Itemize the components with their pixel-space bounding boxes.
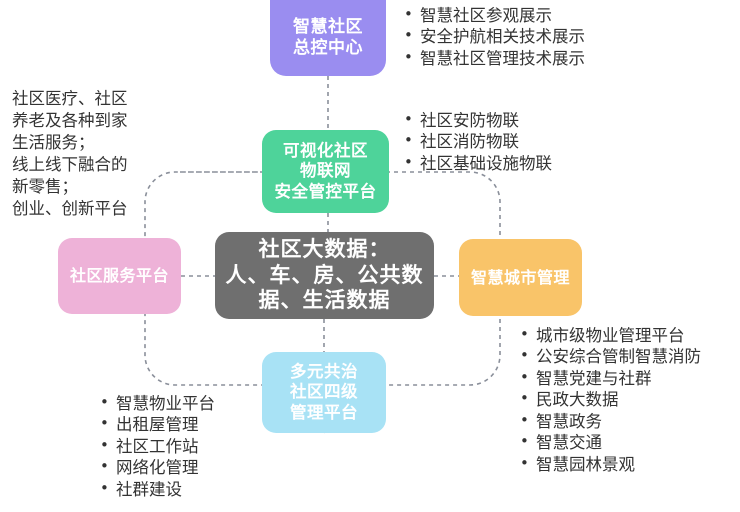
list-item: • 公安综合管制智慧消防 (520, 346, 701, 367)
node-center-line-2: 人、车、房、公共数 (226, 263, 424, 289)
bullet-marker-icon: • (100, 393, 116, 413)
bullet-marker-icon: • (100, 457, 116, 477)
node-community-big-data[interactable]: 社区大数据： 人、车、房、公共数 据、生活数据 (215, 232, 434, 319)
bullet-marker-icon: • (520, 368, 536, 388)
node-visual-community-iot-security-platform[interactable]: 可视化社区 物联网 安全管控平台 (262, 130, 389, 213)
bullet-list-governance: • 智慧物业平台 • 出租屋管理 • 社区工作站 • 网络化管理 • 社群建设 (100, 393, 215, 500)
list-item-label: 智慧社区参观展示 (420, 5, 552, 26)
list-item-label: 社区安防物联 (420, 110, 519, 131)
list-item: • 智慧园林景观 (520, 454, 701, 475)
bullet-list-iot-platform: • 社区安防物联 • 社区消防物联 • 社区基础设施物联 (404, 110, 552, 174)
list-item: • 安全护航相关技术展示 (404, 26, 585, 47)
node-gov-line-1: 多元共治 (290, 362, 358, 382)
node-city-line-1: 智慧城市管理 (471, 268, 570, 288)
list-item-label: 民政大数据 (536, 389, 619, 410)
list-item: • 城市级物业管理平台 (520, 325, 701, 346)
list-item: • 社区消防物联 (404, 131, 552, 152)
list-item: • 社区基础设施物联 (404, 153, 552, 174)
bullet-marker-icon: • (404, 110, 420, 130)
list-item: • 民政大数据 (520, 389, 701, 410)
list-item: • 智慧交通 (520, 432, 701, 453)
node-iot-line-2: 物联网 (275, 161, 377, 181)
left-text-line-2: 养老及各种到家 (12, 110, 187, 132)
node-service-line-1: 社区服务平台 (70, 266, 169, 286)
bullet-marker-icon: • (404, 153, 420, 173)
left-text-line-6: 创业、创新平台 (12, 198, 187, 220)
bullet-marker-icon: • (520, 454, 536, 474)
list-item: • 网络化管理 (100, 457, 215, 478)
list-item-label: 出租屋管理 (116, 414, 199, 435)
node-iot-line-3: 安全管控平台 (275, 182, 377, 202)
list-item: • 智慧社区参观展示 (404, 5, 585, 26)
node-top-line-1: 智慧社区 (293, 17, 363, 38)
bullet-marker-icon: • (100, 436, 116, 456)
list-item: • 智慧党建与社群 (520, 368, 701, 389)
list-item-label: 智慧物业平台 (116, 393, 215, 414)
list-item-label: 网络化管理 (116, 457, 199, 478)
bullet-marker-icon: • (520, 432, 536, 452)
list-item-label: 社区工作站 (116, 436, 199, 457)
node-gov-line-2: 社区四级 (290, 382, 358, 402)
list-item: • 社区工作站 (100, 436, 215, 457)
node-center-line-3: 据、生活数据 (226, 288, 424, 314)
diagram-canvas: 智慧社区 总控中心 可视化社区 物联网 安全管控平台 社区大数据： 人、车、房、… (0, 0, 740, 512)
list-item: • 出租屋管理 (100, 414, 215, 435)
bullet-marker-icon: • (404, 48, 420, 68)
node-gov-line-3: 管理平台 (290, 403, 358, 423)
left-description-text: 社区医疗、社区 养老及各种到家 生活服务； 线上线下融合的 新零售； 创业、创新… (12, 88, 187, 220)
list-item-label: 智慧社区管理技术展示 (420, 48, 585, 69)
left-text-line-4: 线上线下融合的 (12, 154, 187, 176)
list-item: • 智慧物业平台 (100, 393, 215, 414)
list-item-label: 智慧政务 (536, 411, 602, 432)
bullet-marker-icon: • (520, 389, 536, 409)
list-item: • 社群建设 (100, 479, 215, 500)
bullet-marker-icon: • (520, 346, 536, 366)
node-top-line-2: 总控中心 (293, 38, 363, 59)
node-center-line-1: 社区大数据： (226, 237, 424, 263)
node-four-level-community-governance-platform[interactable]: 多元共治 社区四级 管理平台 (262, 352, 386, 433)
bullet-marker-icon: • (404, 26, 420, 46)
bullet-marker-icon: • (100, 414, 116, 434)
left-text-line-5: 新零售； (12, 176, 187, 198)
list-item-label: 城市级物业管理平台 (536, 325, 685, 346)
list-item-label: 安全护航相关技术展示 (420, 26, 585, 47)
bullet-marker-icon: • (100, 479, 116, 499)
bullet-marker-icon: • (404, 5, 420, 25)
bullet-marker-icon: • (520, 411, 536, 431)
bullet-marker-icon: • (520, 325, 536, 345)
bullet-list-smart-city: • 城市级物业管理平台 • 公安综合管制智慧消防 • 智慧党建与社群 • 民政大… (520, 325, 701, 475)
left-text-line-1: 社区医疗、社区 (12, 88, 187, 110)
node-community-service-platform[interactable]: 社区服务平台 (58, 238, 181, 314)
list-item-label: 智慧交通 (536, 432, 602, 453)
list-item-label: 社区消防物联 (420, 131, 519, 152)
list-item-label: 公安综合管制智慧消防 (536, 346, 701, 367)
list-item: • 智慧政务 (520, 411, 701, 432)
list-item-label: 社区基础设施物联 (420, 153, 552, 174)
node-smart-city-management[interactable]: 智慧城市管理 (459, 239, 582, 316)
bullet-list-control-center: • 智慧社区参观展示 • 安全护航相关技术展示 • 智慧社区管理技术展示 (404, 5, 585, 69)
bullet-marker-icon: • (404, 131, 420, 151)
list-item: • 智慧社区管理技术展示 (404, 48, 585, 69)
list-item-label: 智慧园林景观 (536, 454, 635, 475)
list-item-label: 社群建设 (116, 479, 182, 500)
node-smart-community-control-center[interactable]: 智慧社区 总控中心 (270, 0, 386, 76)
list-item: • 社区安防物联 (404, 110, 552, 131)
node-iot-line-1: 可视化社区 (275, 141, 377, 161)
list-item-label: 智慧党建与社群 (536, 368, 652, 389)
left-text-line-3: 生活服务； (12, 132, 187, 154)
